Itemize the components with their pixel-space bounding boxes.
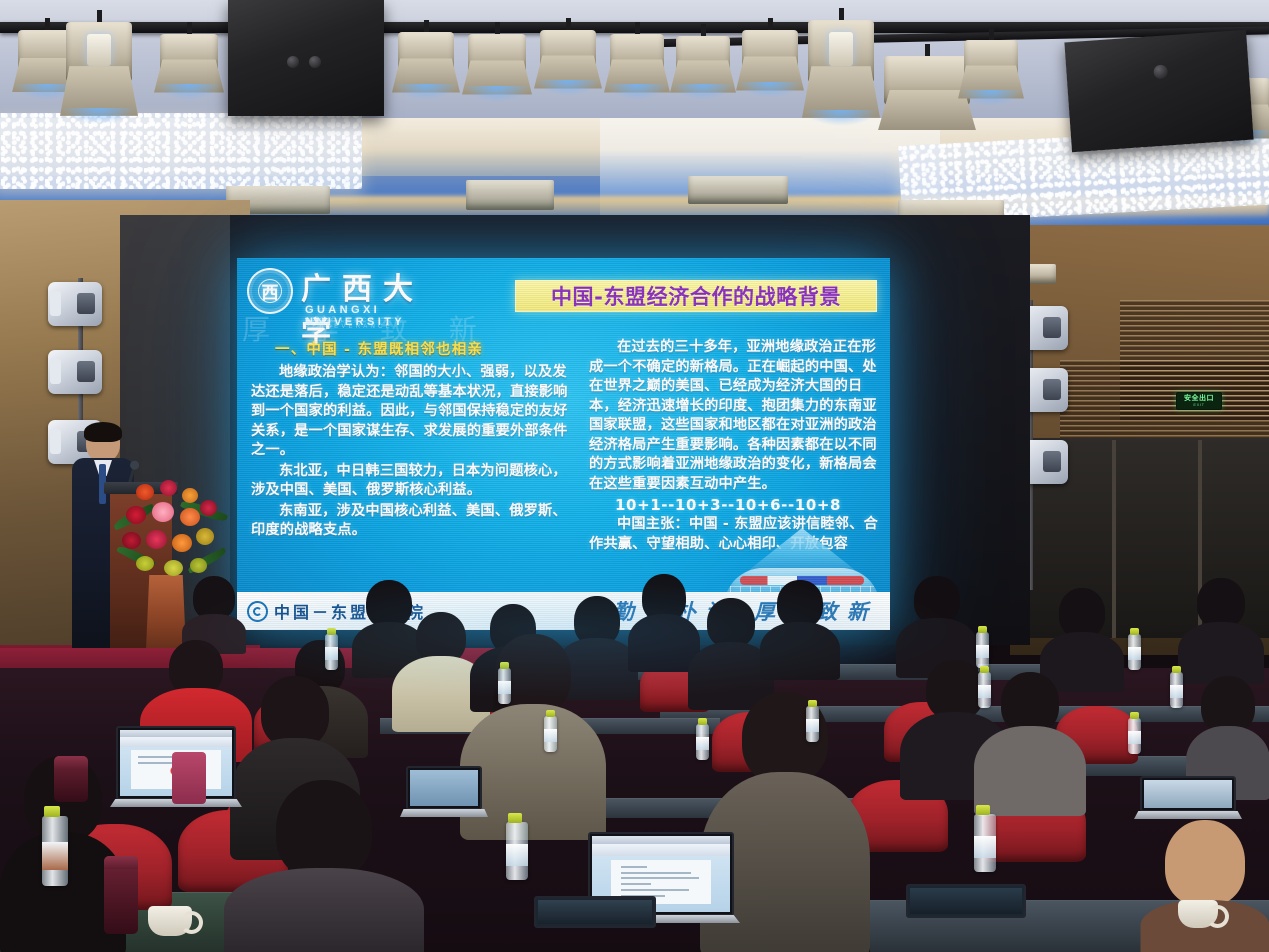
ceiling-flood-light-icon — [466, 180, 554, 210]
pink-cup[interactable] — [172, 752, 206, 804]
audience-member — [224, 780, 424, 952]
water-bottle[interactable] — [325, 634, 338, 670]
led-presentation-screen: 西 广西大学 GUANGXI UNIVERSITY EXCELLENCE PER… — [237, 258, 890, 630]
teacup[interactable] — [148, 906, 192, 936]
water-bottle[interactable] — [976, 632, 989, 668]
water-bottle[interactable] — [696, 724, 709, 760]
stage-spotlight-icon — [964, 28, 1018, 100]
laptop-screen[interactable] — [1140, 776, 1236, 812]
water-bottle[interactable] — [42, 816, 68, 886]
ceiling-flood-light-icon — [688, 176, 788, 204]
slide-title-text: 中国-东盟经济合作的战略背景 — [551, 281, 841, 311]
water-bottle[interactable] — [498, 668, 511, 704]
water-bottle[interactable] — [974, 814, 996, 872]
water-bottle[interactable] — [806, 706, 819, 742]
water-bottle[interactable] — [1128, 718, 1141, 754]
water-bottle[interactable] — [1170, 672, 1183, 708]
slide-section-heading: 一、中国 - 东盟既相邻也相亲 — [275, 338, 573, 359]
audience-member — [182, 576, 246, 646]
audience-member — [1178, 578, 1264, 682]
audience-member — [760, 580, 840, 676]
exit-sign-label-en: EXIT — [1193, 402, 1204, 407]
stage-spotlight-icon — [398, 20, 454, 94]
hanging-speaker-icon — [228, 0, 384, 116]
water-bottle[interactable] — [506, 822, 528, 880]
floral-arrangement — [118, 478, 222, 588]
stage-spotlight-icon — [742, 18, 798, 92]
slide-paragraph: 地缘政治学认为：邻国的大小、强弱，以及发达还是落后，稳定还是动乱等基本状况，直接… — [251, 363, 573, 461]
teacup[interactable] — [1178, 900, 1218, 928]
water-bottle[interactable] — [1128, 634, 1141, 670]
stage-spotlight-icon — [540, 18, 596, 90]
stage-spotlight-icon — [808, 8, 874, 120]
audience-member — [1140, 820, 1269, 952]
water-bottle[interactable] — [978, 672, 991, 708]
moving-head-light-icon — [48, 282, 102, 326]
conference-hall-photo: 安全出口 EXIT 西 广西大学 GUANGXI UNIVERSITY EXCE… — [0, 0, 1269, 952]
stage-spotlight-icon — [160, 22, 218, 94]
stage-spotlight-icon — [676, 24, 730, 94]
slide-paragraph: 在过去的三十多年，亚洲地缘政治正在形成一个不确定的新格局。正在崛起的中国、处在世… — [589, 338, 881, 494]
stage-spotlight-icon — [468, 22, 526, 96]
slide-paragraph: 东北亚，中日韩三国较力，日本为问题核心，涉及中国、美国、俄罗斯核心利益。 — [251, 462, 573, 501]
stage-spotlight-icon — [66, 10, 132, 118]
stage-fresnel-icon — [884, 44, 970, 132]
exit-sign-label-cn: 安全出口 — [1184, 395, 1214, 402]
slide-right-column: 在过去的三十多年，亚洲地缘政治正在形成一个不确定的新格局。正在崛起的中国、处在世… — [589, 338, 881, 555]
thermos-flask[interactable] — [104, 856, 138, 934]
slide-paragraph: 东南亚，涉及中国核心利益、美国、俄罗斯、印度的战略支点。 — [251, 502, 573, 541]
slide-surface: 西 广西大学 GUANGXI UNIVERSITY EXCELLENCE PER… — [237, 258, 890, 630]
right-wall-slats-lower — [1060, 360, 1269, 440]
laptop-closed[interactable] — [534, 896, 656, 928]
crystal-chandelier-left — [0, 113, 362, 189]
water-bottle[interactable] — [544, 716, 557, 752]
laptop-screen[interactable] — [406, 766, 482, 810]
slide-title-banner: 中国-东盟经济合作的战略背景 — [515, 280, 877, 312]
slide-left-column: 一、中国 - 东盟既相邻也相亲 地缘政治学认为：邻国的大小、强弱，以及发达还是落… — [251, 338, 573, 542]
stage-spotlight-icon — [610, 22, 664, 94]
laptop-closed[interactable] — [906, 884, 1026, 918]
hanging-speaker-icon — [1064, 30, 1253, 152]
exit-sign: 安全出口 EXIT — [1176, 392, 1222, 410]
slide-formula: 10+1--10+3--10+6--10+8 — [589, 495, 881, 515]
thermos-flask[interactable] — [54, 756, 88, 802]
moving-head-light-icon — [48, 350, 102, 394]
institute-logo-icon — [247, 601, 268, 622]
